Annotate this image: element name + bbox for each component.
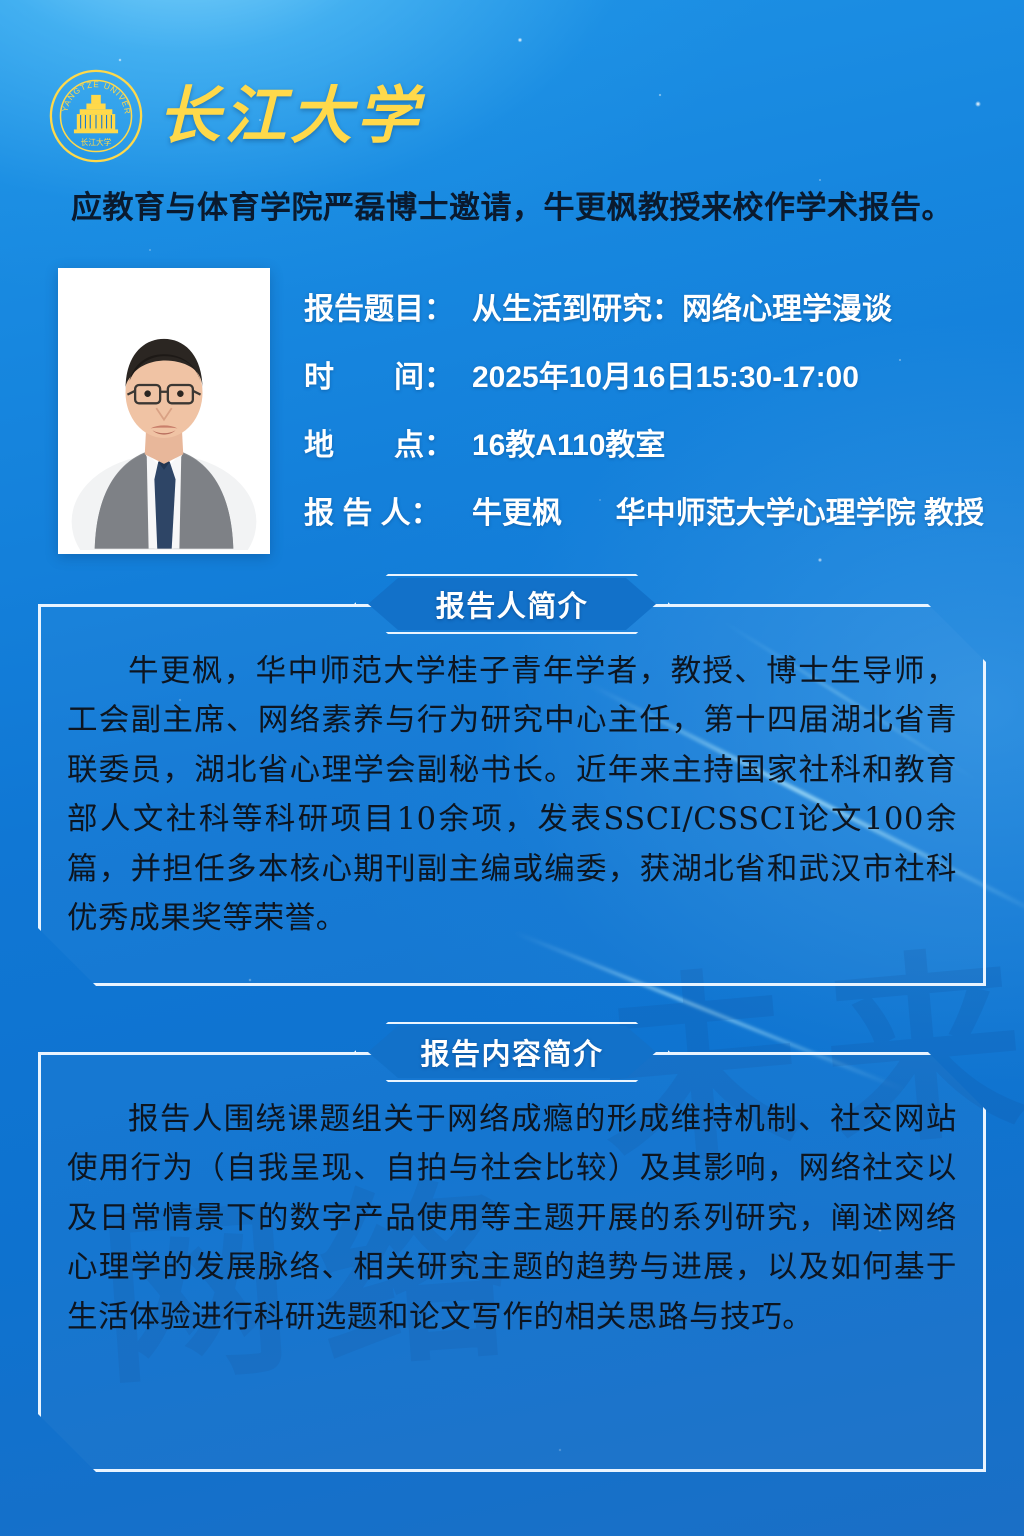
section-banner-bio: 报告人简介 xyxy=(368,578,656,630)
detail-value-time: 2025年10月16日15:30-17:00 xyxy=(472,352,984,396)
detail-label-speaker: 报 告 人： xyxy=(304,488,472,532)
section-frame-bio: 牛更枫，华中师范大学桂子青年学者，教授、博士生导师，工会副主席、网络素养与行为研… xyxy=(38,604,986,986)
speaker-bio-text: 牛更枫，华中师范大学桂子青年学者，教授、博士生导师，工会副主席、网络素养与行为研… xyxy=(67,647,957,943)
detail-value-location: 16教A110教室 xyxy=(472,420,984,464)
detail-value-speaker-affiliation: 华中师范大学心理学院 教授 xyxy=(616,488,984,532)
detail-row-location: 地 点： 16教A110教室 xyxy=(304,420,984,464)
section-lecture-content: 报告内容简介 报告人围绕课题组关于网络成瘾的形成维持机制、社交网站使用行为（自我… xyxy=(38,1052,986,1472)
page-title: 应教育与体育学院严磊博士邀请，牛更枫教授来校作学术报告。 xyxy=(0,182,1024,227)
section-frame-content: 报告人围绕课题组关于网络成瘾的形成维持机制、社交网站使用行为（自我呈现、自拍与社… xyxy=(38,1052,986,1472)
university-name: 长江大学 xyxy=(158,85,422,147)
lecture-details-list: 报告题目： 从生活到研究：网络心理学漫谈 时 间： 2025年10月16日15:… xyxy=(304,268,984,532)
detail-row-speaker: 报 告 人： 牛更枫 华中师范大学心理学院 教授 xyxy=(304,488,984,532)
section-speaker-bio: 报告人简介 牛更枫，华中师范大学桂子青年学者，教授、博士生导师，工会副主席、网络… xyxy=(38,604,986,986)
section-banner-content: 报告内容简介 xyxy=(368,1026,656,1078)
detail-label-location: 地 点： xyxy=(304,420,472,464)
university-brand: YANGTZE UNIVERSITY 长江大学 长江大学 xyxy=(48,68,422,164)
svg-text:长江大学: 长江大学 xyxy=(81,137,112,147)
section-banner-label: 报告内容简介 xyxy=(368,1026,656,1078)
speaker-portrait xyxy=(62,272,266,550)
speaker-info-row: 报告题目： 从生活到研究：网络心理学漫谈 时 间： 2025年10月16日15:… xyxy=(58,268,984,554)
speaker-portrait-frame xyxy=(58,268,270,554)
detail-label-topic: 报告题目： xyxy=(304,284,472,328)
detail-label-time: 时 间： xyxy=(304,352,472,396)
section-banner-label: 报告人简介 xyxy=(368,578,656,630)
university-seal-icon: YANGTZE UNIVERSITY 长江大学 xyxy=(48,68,144,164)
detail-row-time: 时 间： 2025年10月16日15:30-17:00 xyxy=(304,352,984,396)
detail-row-topic: 报告题目： 从生活到研究：网络心理学漫谈 xyxy=(304,284,984,328)
poster-root: 网络 未来 YANGTZE UNIVERSITY xyxy=(0,0,1024,1536)
lecture-content-text: 报告人围绕课题组关于网络成瘾的形成维持机制、社交网站使用行为（自我呈现、自拍与社… xyxy=(67,1095,957,1342)
detail-value-topic: 从生活到研究：网络心理学漫谈 xyxy=(472,284,984,328)
detail-value-speaker: 牛更枫 xyxy=(472,488,590,532)
